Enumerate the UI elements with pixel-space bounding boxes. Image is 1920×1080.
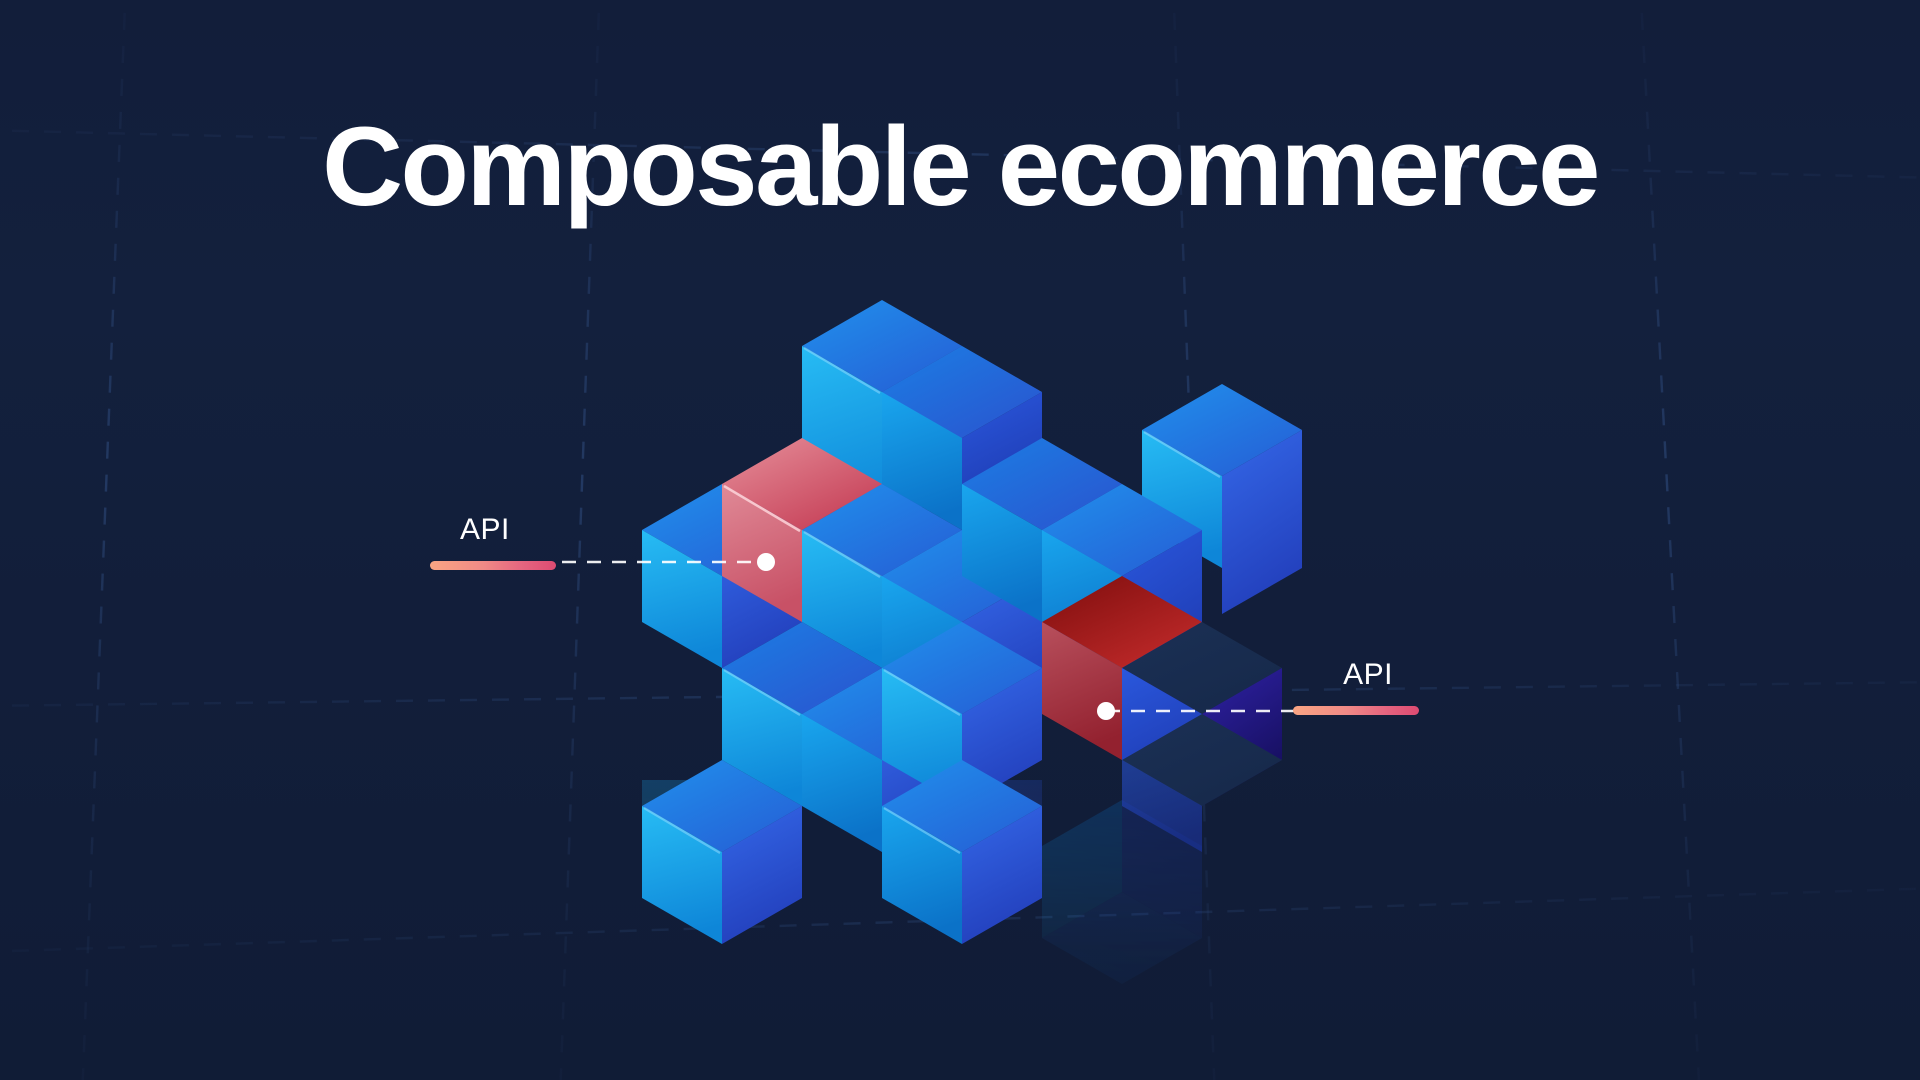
slide-canvas: Composable ecommerce API API [0, 0, 1920, 1080]
callout-api-right[interactable]: API [1293, 660, 1419, 715]
callout-api-right-bar [1293, 706, 1419, 715]
callout-api-left-bar [430, 561, 556, 570]
page-title: Composable ecommerce [0, 108, 1920, 226]
callout-api-left-label: API [460, 515, 556, 545]
callout-api-left[interactable]: API [430, 515, 556, 570]
callout-api-right-label: API [1293, 660, 1393, 690]
